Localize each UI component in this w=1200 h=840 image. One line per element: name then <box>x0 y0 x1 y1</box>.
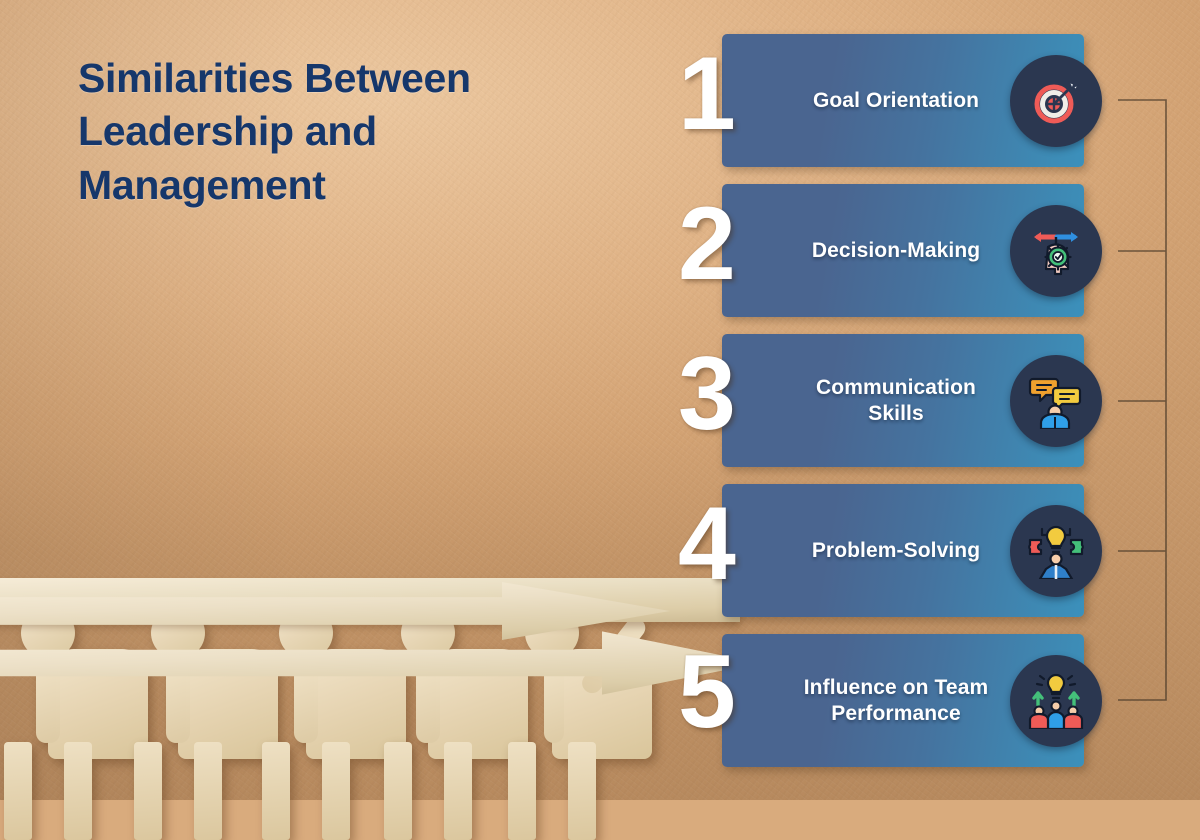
card-5-label-line-1: Influence on Team <box>768 674 1024 700</box>
target-bullseye-arrow-icon <box>1010 55 1102 147</box>
similarities-card-list: Goal Orientation 1 Decision-Making <box>0 0 1200 800</box>
card-2-number: 2 <box>678 192 736 296</box>
card-3-communication-skills[interactable]: Communication Skills <box>722 334 1084 467</box>
card-5-label-line-2: Performance <box>768 701 1024 727</box>
card-1-label-line-1: Goal Orientation <box>768 87 1024 113</box>
card-1-number: 1 <box>678 42 736 146</box>
card-1-label: Goal Orientation <box>768 87 1024 113</box>
card-1-goal-orientation[interactable]: Goal Orientation <box>722 34 1084 167</box>
card-3-label-line-1: Communication <box>768 374 1024 400</box>
card-3-label: Communication Skills <box>768 374 1024 426</box>
team-lightbulb-growth-icon <box>1010 655 1102 747</box>
card-4-label: Problem-Solving <box>768 537 1024 563</box>
card-5-number: 5 <box>678 640 736 744</box>
card-4-problem-solving[interactable]: Problem-Solving <box>722 484 1084 617</box>
card-3-number: 3 <box>678 342 736 446</box>
lightbulb-puzzle-person-icon <box>1010 505 1102 597</box>
card-2-label: Decision-Making <box>768 237 1024 263</box>
card-4-number: 4 <box>678 492 736 596</box>
card-3-label-line-2: Skills <box>768 401 1024 427</box>
card-5-label: Influence on Team Performance <box>768 674 1024 726</box>
card-5-influence-on-team-performance[interactable]: Influence on Team Performance <box>722 634 1084 767</box>
card-4-label-line-1: Problem-Solving <box>768 537 1024 563</box>
card-2-label-line-1: Decision-Making <box>768 237 1024 263</box>
speech-bubbles-person-icon <box>1010 355 1102 447</box>
card-2-decision-making[interactable]: Decision-Making <box>722 184 1084 317</box>
head-gear-decision-arrows-icon <box>1010 205 1102 297</box>
